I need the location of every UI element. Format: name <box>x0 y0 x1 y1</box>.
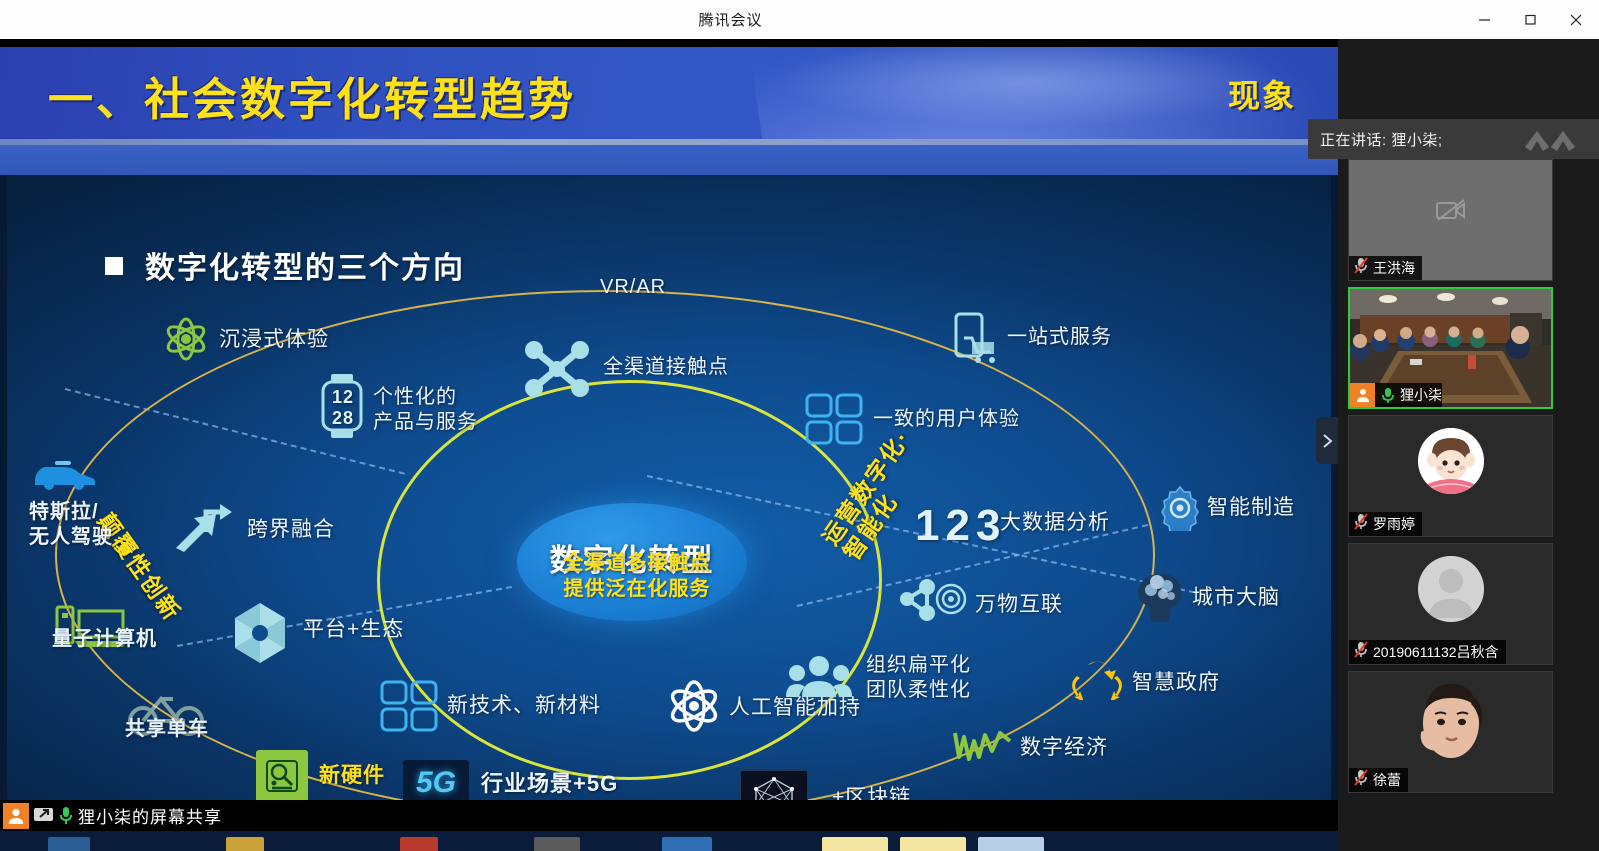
four-squares-icon-newtech <box>380 680 438 732</box>
four-squares-icon-ux <box>805 393 863 445</box>
banner-lower-strip <box>0 145 1338 175</box>
brain-head-icon <box>1133 570 1185 626</box>
collapse-rail-button[interactable] <box>1316 417 1338 464</box>
mic-muted-icon <box>1353 641 1369 663</box>
label-smart-manufacturing: 智能制造 <box>1207 495 1295 521</box>
people-group-icon <box>786 655 852 699</box>
mic-muted-icon <box>1353 513 1369 535</box>
slide-header-title: 一、社会数字化转型趋势 <box>48 63 576 128</box>
minimize-icon[interactable] <box>1461 0 1507 39</box>
speaking-label: 正在讲话: 狸小柒; <box>1320 129 1443 150</box>
label-industry-5g: 行业场景+5G <box>481 770 618 798</box>
taskbar-item[interactable] <box>534 837 580 851</box>
label-shared-bike: 共享单车 <box>125 717 209 742</box>
iot-nodes-icon <box>895 575 967 623</box>
label-watch-date: 12 28 <box>332 387 354 428</box>
mobile-cart-icon <box>950 312 1002 366</box>
participants-rail: 正在讲话: 狸小柒; <box>1338 39 1599 851</box>
windows-taskbar-strip <box>0 831 1338 851</box>
title-bar: 腾讯会议 <box>0 0 1599 39</box>
label-new-hardware: 新硬件 <box>319 763 385 789</box>
speaking-banner: 正在讲话: 狸小柒; <box>1308 119 1599 159</box>
label-personalized-products: 个性化的 产品与服务 <box>373 385 478 435</box>
default-person-avatar <box>1418 556 1484 622</box>
participant-tile[interactable]: 20190611132吕秋含 <box>1348 543 1553 665</box>
square-bullet-icon <box>105 257 123 275</box>
label-tesla-autonomous: 特斯拉/ 无人驾驶 <box>29 500 113 550</box>
participant-namebar: 狸小柒 <box>1350 383 1442 407</box>
window-controls <box>1461 0 1599 39</box>
person-icon <box>3 803 29 829</box>
participant-name: 罗雨婷 <box>1373 514 1415 534</box>
label-flat-organization: 组织扁平化 团队柔性化 <box>866 653 971 703</box>
slide-header-tag: 现象 <box>1228 71 1296 117</box>
label-digital-economy: 数字经济 <box>1020 735 1108 761</box>
maximize-icon[interactable] <box>1507 0 1553 39</box>
participant-tiles: 王洪海 <box>1348 159 1556 799</box>
label-crossover-integration: 跨界融合 <box>247 517 335 543</box>
taskbar-item[interactable] <box>822 837 888 851</box>
label-onestop-service: 一站式服务 <box>1007 325 1112 350</box>
taskbar-item[interactable] <box>226 837 264 851</box>
gear-icon-smart-manufacturing <box>1157 485 1203 531</box>
mic-active-icon <box>1380 387 1396 404</box>
cartoon-girl-avatar <box>1418 428 1484 494</box>
presentation-slide: 一、社会数字化转型趋势 现象 数字化转型的三个方向 数字化转型 全渠道多接触点 <box>0 47 1338 839</box>
atom-icon-ai <box>666 680 722 732</box>
slide-body: 数字化转型的三个方向 数字化转型 全渠道多接触点 提供泛在化服务 颠覆性创新 运… <box>7 175 1331 832</box>
label-quantum-computer: 量子计算机 <box>52 627 157 652</box>
participant-tile[interactable]: 王洪海 <box>1348 159 1553 281</box>
photo-avatar <box>1415 680 1487 766</box>
taskbar-item[interactable] <box>662 837 712 851</box>
slide-header-banner: 一、社会数字化转型趋势 现象 <box>0 47 1338 139</box>
aperture-icon-platform <box>227 600 293 666</box>
taskbar-item[interactable] <box>900 837 966 851</box>
participant-name: 徐蕾 <box>1373 770 1401 790</box>
host-badge-icon <box>1350 383 1375 407</box>
slide-body-heading: 数字化转型的三个方向 <box>145 243 465 287</box>
participant-namebar: 徐蕾 <box>1349 768 1408 792</box>
car-icon-tesla <box>29 455 99 491</box>
tencent-meeting-logo-icon <box>1521 125 1585 159</box>
fiveg-logo-text: 5G <box>416 766 456 800</box>
label-city-brain: 城市大脑 <box>1192 585 1280 611</box>
label-consistent-ux: 一致的用户体验 <box>873 407 1020 432</box>
participant-tile[interactable]: 徐蕾 <box>1348 671 1553 793</box>
atom-icon-immersive <box>162 317 210 361</box>
tencent-meeting-window: 腾讯会议 一、社会数字化转型趋势 现象 <box>0 0 1599 851</box>
camera-off-icon <box>1436 198 1466 227</box>
participant-tile-active[interactable]: 狸小柒 <box>1348 287 1553 409</box>
recycle-arrows-icon-gov <box>1067 660 1129 700</box>
label-platform-ecosystem: 平台+生态 <box>303 617 404 643</box>
share-label: 狸小柒的屏幕共享 <box>78 803 222 828</box>
mic-muted-icon <box>1353 257 1369 279</box>
label-vr-ar: VR/AR <box>600 275 666 300</box>
shared-screen-stage[interactable]: 一、社会数字化转型趋势 现象 数字化转型的三个方向 数字化转型 全渠道多接触点 <box>0 39 1338 851</box>
core-caption: 全渠道多接触点 提供泛在化服务 <box>512 550 762 602</box>
label-smart-government: 智慧政府 <box>1132 670 1220 696</box>
label-iot: 万物互联 <box>975 592 1063 618</box>
label-bigdata-number: 123 <box>915 498 1006 553</box>
taskbar-item[interactable] <box>400 837 438 851</box>
participant-name: 王洪海 <box>1373 258 1415 278</box>
participant-namebar: 罗雨婷 <box>1349 512 1422 536</box>
close-icon[interactable] <box>1553 0 1599 39</box>
label-immersive-experience: 沉浸式体验 <box>219 327 329 353</box>
label-new-tech-materials: 新技术、新材料 <box>447 693 601 719</box>
taskbar-item[interactable] <box>48 837 90 851</box>
app-title: 腾讯会议 <box>0 9 1461 30</box>
network-nodes-icon <box>522 338 592 400</box>
growth-chart-icon-digital-economy <box>952 727 1014 763</box>
screen-share-indicator: 狸小柒的屏幕共享 <box>0 800 1338 831</box>
participant-name: 狸小柒 <box>1400 385 1442 405</box>
mic-muted-icon <box>1353 769 1369 791</box>
participant-tile[interactable]: 罗雨婷 <box>1348 415 1553 537</box>
label-bigdata-analysis: 大数据分析 <box>1000 510 1110 536</box>
merge-arrow-icon <box>170 502 234 556</box>
chevron-right-icon <box>1322 433 1333 449</box>
hardware-disk-icon <box>256 750 308 802</box>
label-omnichannel-touchpoint: 全渠道接触点 <box>603 355 729 380</box>
microphone-icon <box>58 806 74 825</box>
participant-name: 20190611132吕秋含 <box>1373 642 1499 662</box>
taskbar-item[interactable] <box>978 837 1044 851</box>
participant-namebar: 王洪海 <box>1349 256 1422 280</box>
banner-decoration-2 <box>778 47 1278 127</box>
screen-share-icon <box>33 806 54 825</box>
participant-namebar: 20190611132吕秋含 <box>1349 640 1506 664</box>
